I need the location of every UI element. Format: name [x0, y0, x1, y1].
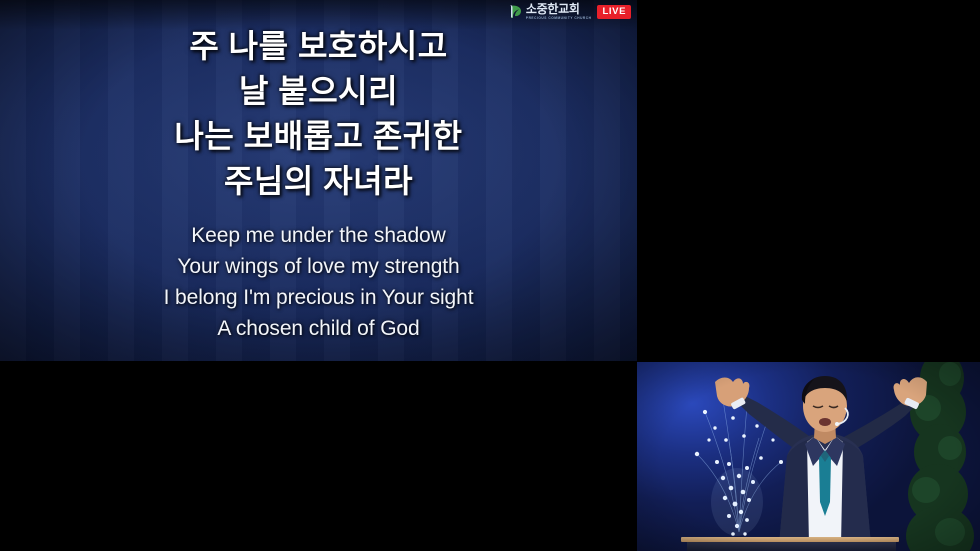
- pulpit-body: [687, 542, 896, 551]
- church-name-english: PRECIOUS COMMUNITY CHURCH: [526, 17, 592, 20]
- korean-lyric-line: 주님의 자녀라: [0, 159, 637, 204]
- english-lyrics-block: Keep me under the shadow Your wings of l…: [0, 220, 637, 344]
- church-name-korean: 소중한교회: [526, 3, 592, 15]
- church-leaf-logo-icon: [510, 4, 523, 19]
- speaker-figure: [675, 370, 961, 545]
- church-logo: 소중한교회 PRECIOUS COMMUNITY CHURCH: [510, 3, 592, 20]
- korean-lyric-line: 주 나를 보호하시고: [0, 24, 637, 69]
- english-lyric-line: Your wings of love my strength: [0, 251, 637, 282]
- english-lyric-line: A chosen child of God: [0, 313, 637, 344]
- lyric-slide: 주 나를 보호하시고 날 붙으시리 나는 보배롭고 존귀한 주님의 자녀라 Ke…: [0, 0, 637, 361]
- live-badge: LIVE: [597, 5, 631, 19]
- empty-region-bottom-left: [0, 361, 637, 551]
- live-video-panel[interactable]: [637, 362, 980, 551]
- korean-lyrics-block: 주 나를 보호하시고 날 붙으시리 나는 보배롭고 존귀한 주님의 자녀라: [0, 24, 637, 204]
- empty-region-top-right: [637, 0, 980, 362]
- broadcast-brand-bar: 소중한교회 PRECIOUS COMMUNITY CHURCH LIVE: [510, 3, 631, 20]
- church-logo-text: 소중한교회 PRECIOUS COMMUNITY CHURCH: [526, 3, 592, 20]
- korean-lyric-line: 나는 보배롭고 존귀한: [0, 114, 637, 159]
- korean-lyric-line: 날 붙으시리: [0, 69, 637, 114]
- english-lyric-line: I belong I'm precious in Your sight: [0, 282, 637, 313]
- wooden-pulpit: [681, 537, 899, 551]
- broadcast-stage: 주 나를 보호하시고 날 붙으시리 나는 보배롭고 존귀한 주님의 자녀라 Ke…: [0, 0, 980, 551]
- english-lyric-line: Keep me under the shadow: [0, 220, 637, 251]
- lyrics-container: 주 나를 보호하시고 날 붙으시리 나는 보배롭고 존귀한 주님의 자녀라 Ke…: [0, 0, 637, 361]
